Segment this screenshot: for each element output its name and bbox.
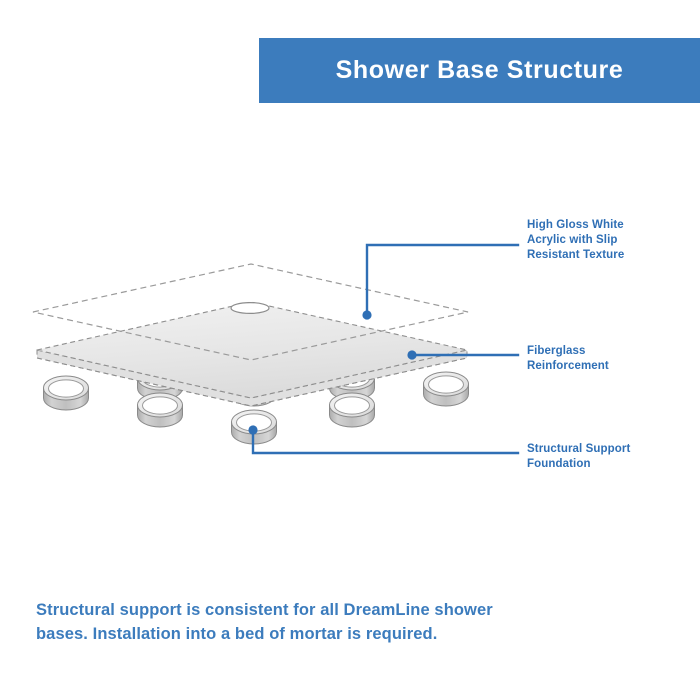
footer-note: Structural support is consistent for all… — [36, 598, 496, 646]
page-title: Shower Base Structure — [336, 56, 624, 85]
callout-label-fiberglass: Fiberglass Reinforcement — [527, 344, 692, 374]
drain-opening-icon — [231, 303, 269, 314]
support-ring — [424, 372, 469, 406]
leader-anchor-dot — [407, 350, 416, 359]
header-banner: Shower Base Structure — [259, 38, 700, 103]
support-ring — [138, 393, 183, 427]
leader-anchor-dot — [248, 425, 257, 434]
product-info-page: Shower Base Structure — [0, 0, 700, 700]
callout-label-support: Structural Support Foundation — [527, 442, 692, 472]
slab-top-face — [37, 302, 467, 398]
leader-path — [367, 245, 518, 315]
fiberglass-reinforcement-layer — [37, 302, 467, 406]
leader-path — [253, 430, 518, 453]
leader-line-acrylic — [362, 245, 518, 320]
support-ring — [44, 376, 89, 410]
support-ring — [330, 393, 375, 427]
callout-label-acrylic: High Gloss White Acrylic with Slip Resis… — [527, 218, 692, 263]
leader-anchor-dot — [362, 310, 371, 319]
leader-line-support — [248, 425, 518, 453]
